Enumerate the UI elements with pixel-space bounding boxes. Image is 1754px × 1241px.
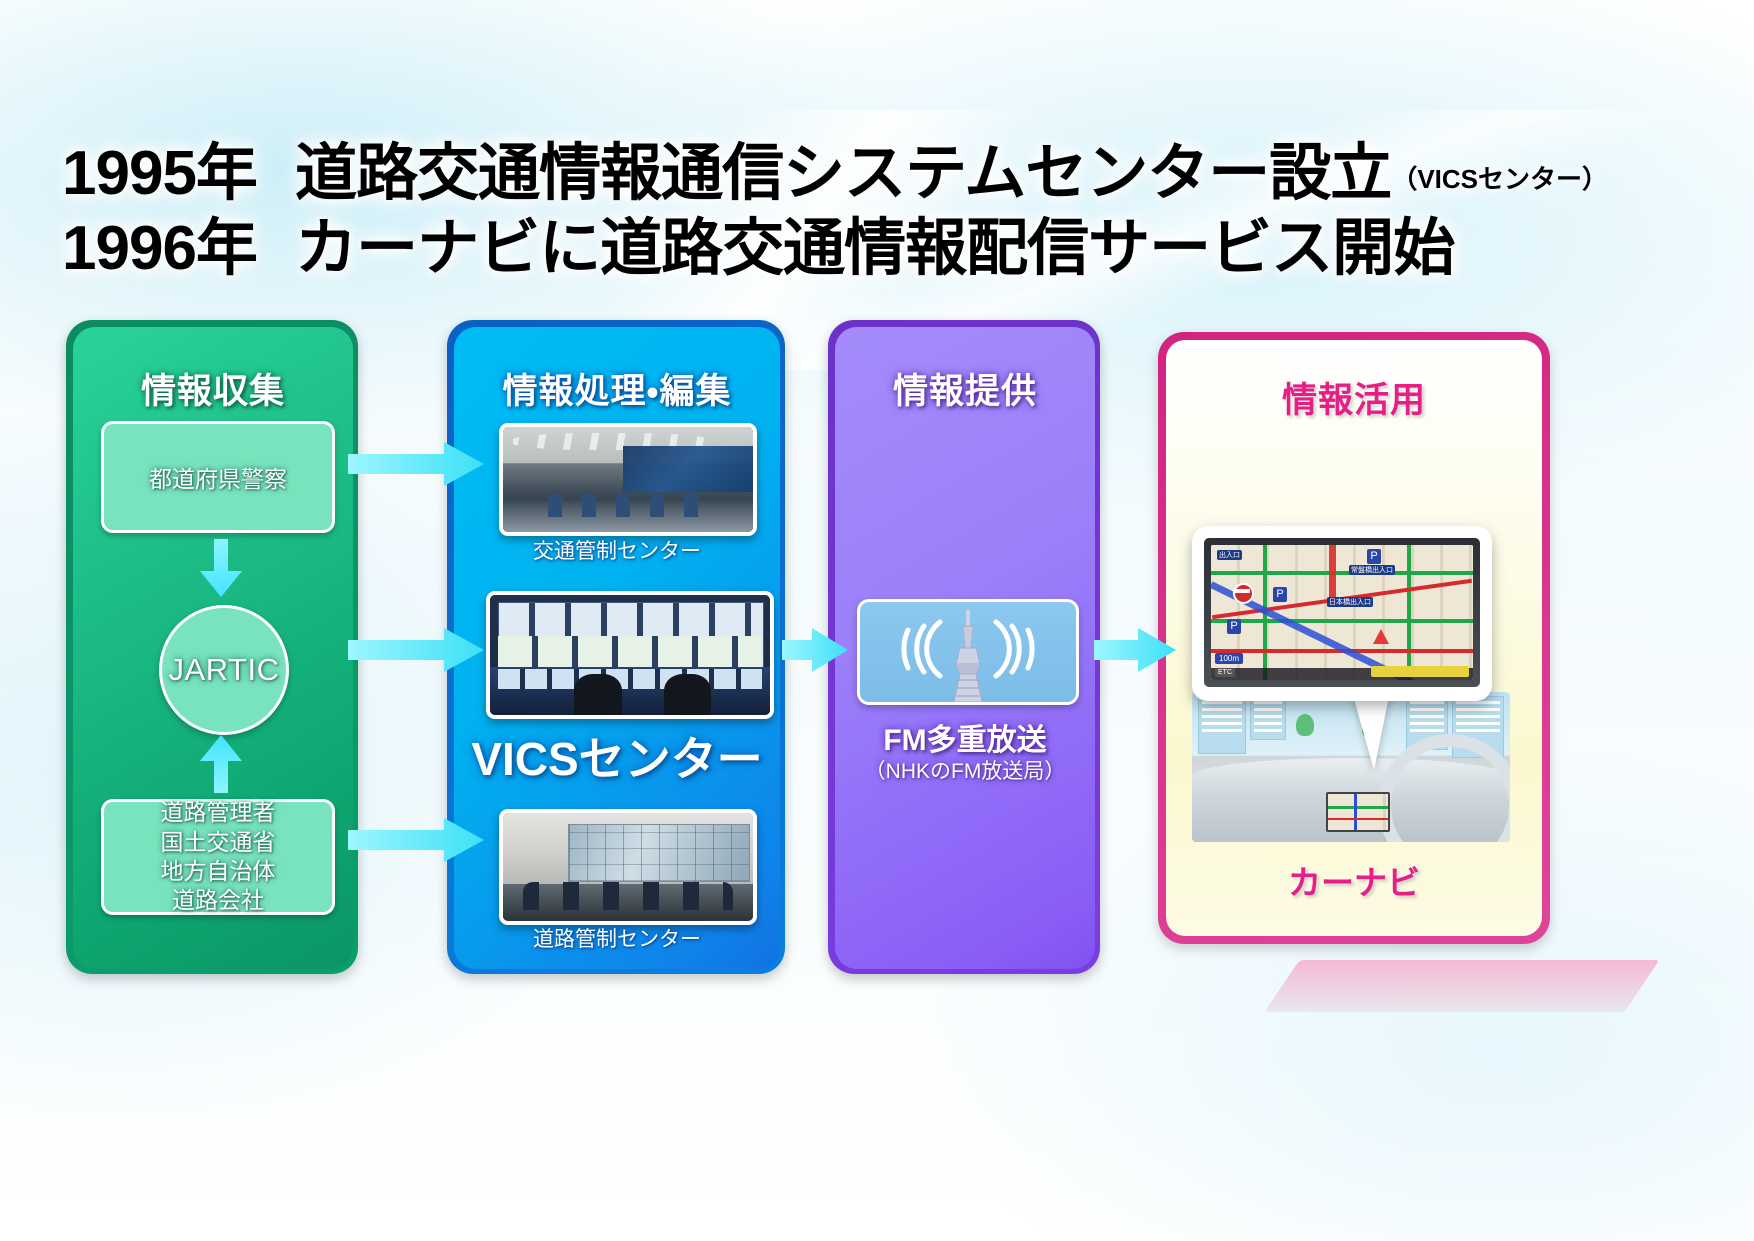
photo-road-control-center bbox=[499, 809, 757, 925]
photo-traffic-control-center bbox=[499, 423, 757, 536]
headline-note-vics: （VICSセンター） bbox=[1391, 164, 1608, 194]
road-admin-line-1: 道路管理者 bbox=[161, 798, 276, 827]
illustration-car-interior bbox=[1192, 692, 1510, 842]
box-road-administrators: 道路管理者 国土交通省 地方自治体 道路会社 bbox=[101, 799, 335, 915]
navi-label-3: 日本橋出入口 bbox=[1327, 597, 1373, 607]
arrow-right-icon-process-to-provide bbox=[782, 626, 848, 674]
headline-year-1995: 1995年 bbox=[62, 139, 257, 208]
headline-year-1996: 1996年 bbox=[62, 214, 257, 283]
headline-text-1: 道路交通情報通信システムセンター設立 bbox=[295, 139, 1391, 208]
photo-vics-center bbox=[486, 591, 774, 719]
broadcast-tower-icon bbox=[857, 599, 1079, 705]
navi-etc-badge: ETC bbox=[1215, 668, 1235, 677]
headline-line-1: 1995年 道路交通情報通信システムセンター設立（VICSセンター） bbox=[62, 142, 1712, 205]
label-fm-multiplex-broadcast: FM多重放送 bbox=[835, 715, 1095, 759]
panel-use-inner: 情報活用 bbox=[1166, 340, 1542, 936]
panel-use-title: 情報活用 bbox=[1166, 372, 1542, 423]
panel-information-provision: 情報提供 bbox=[828, 320, 1100, 974]
navi-map-display: 出入口 常盤橋出入口 日本橋出入口 P P P 100m ETC bbox=[1211, 545, 1473, 680]
arrow-right-icon-collect-to-road bbox=[348, 816, 484, 864]
headline-line-2: 1996年 カーナビに道路交通情報配信サービス開始 bbox=[62, 217, 1712, 280]
node-jartic-label: JARTIC bbox=[169, 652, 280, 688]
car-navigation-device: 出入口 常盤橋出入口 日本橋出入口 P P P 100m ETC bbox=[1192, 526, 1492, 701]
panel-collect-title: 情報収集 bbox=[73, 363, 353, 414]
road-admin-line-4: 道路会社 bbox=[172, 886, 264, 915]
caption-car-navigation: カーナビ bbox=[1166, 856, 1542, 904]
arrow-right-icon-collect-to-traffic bbox=[348, 440, 484, 488]
arrow-down-icon-police-to-jartic bbox=[197, 539, 245, 599]
road-admin-line-3: 地方自治体 bbox=[161, 857, 276, 886]
navi-current-position-icon bbox=[1373, 629, 1389, 644]
caption-traffic-control-center: 交通管制センター bbox=[454, 535, 780, 565]
caption-road-control-center: 道路管制センター bbox=[454, 923, 780, 953]
callout-pointer bbox=[1352, 692, 1390, 770]
node-jartic: JARTIC bbox=[159, 605, 289, 735]
navi-bezel: 出入口 常盤橋出入口 日本橋出入口 P P P 100m ETC bbox=[1204, 538, 1480, 687]
panel-information-processing: 情報処理・編集 交通管制センター VICSセンター 道路管制センター bbox=[447, 320, 785, 974]
arrow-right-icon-collect-to-vics bbox=[348, 626, 484, 674]
headline-text-2: カーナビに道路交通情報配信サービス開始 bbox=[295, 214, 1454, 283]
panel-information-utilization: 情報活用 bbox=[1158, 332, 1550, 944]
box-prefectural-police: 都道府県警察 bbox=[101, 421, 335, 533]
navi-label-1: 出入口 bbox=[1217, 550, 1242, 560]
panel-provide-inner: 情報提供 bbox=[835, 327, 1095, 969]
panel-use-base-shadow bbox=[1264, 960, 1659, 1012]
panel-process-inner: 情報処理・編集 交通管制センター VICSセンター 道路管制センター bbox=[454, 327, 780, 969]
arrow-up-icon-roadadmin-to-jartic bbox=[197, 735, 245, 795]
navi-label-2: 常盤橋出入口 bbox=[1349, 565, 1395, 575]
box-prefectural-police-label: 都道府県警察 bbox=[149, 460, 287, 494]
panel-information-collection: 情報収集 都道府県警察 JARTIC 道路管理者 国土交通省 地方自 bbox=[66, 320, 358, 974]
mini-navi-screen bbox=[1326, 792, 1390, 832]
navi-scale-label: 100m bbox=[1215, 653, 1243, 664]
page-title: 1995年 道路交通情報通信システムセンター設立（VICSセンター） 1996年… bbox=[62, 142, 1712, 280]
label-fm-multiplex-sub: （NHKのFM放送局） bbox=[835, 755, 1095, 785]
label-vics-center: VICSセンター bbox=[454, 723, 780, 789]
road-admin-line-2: 国土交通省 bbox=[161, 828, 276, 857]
panel-process-title: 情報処理・編集 bbox=[454, 363, 780, 414]
panel-collect-inner: 情報収集 都道府県警察 JARTIC 道路管理者 国土交通省 地方自 bbox=[73, 327, 353, 969]
panel-provide-title: 情報提供 bbox=[835, 363, 1095, 414]
arrow-right-icon-provide-to-use bbox=[1094, 626, 1176, 674]
navi-status-bar bbox=[1371, 666, 1469, 677]
